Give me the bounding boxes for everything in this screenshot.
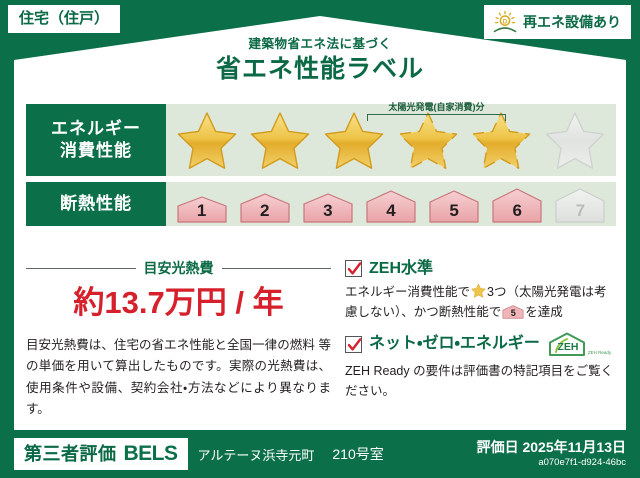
insulation-badge-1-number: 1 [175,202,229,219]
cost-rule-right [222,268,332,269]
energy-star-5-solar [470,110,532,170]
cost-section: 目安光熱費 約13.7万円 / 年 目安光熱費は、住宅の省エネ性能と全国一律の燃… [26,258,331,420]
renewable-equipment-tag: D 再エネ設備あり [484,5,631,39]
insulation-badge-4-number: 4 [364,202,418,219]
cost-heading-row: 目安光熱費 [26,258,331,278]
zeh-netzero-title: ネット・ゼロ・エネルギー [369,335,540,353]
zeh-standard-desc-part4: を達成 [525,305,563,319]
cost-note: 目安光熱費は、住宅の省エネ性能と全国一律の燃料 等の単価を用いて算出したものです… [26,335,331,420]
energy-star-1 [176,110,238,170]
star-icon [471,283,486,298]
insulation-badge-5: 5 [427,187,481,223]
svg-text:ZEH: ZEH [557,341,578,353]
cost-value: 約13.7万円 / 年 [26,284,331,321]
energy-label-line1: エネルギー [51,118,141,140]
cost-heading-label: 目安光熱費 [144,258,214,278]
zeh-netzero-head: ネット・ゼロ・エネルギー ZEH ZEH Ready [345,331,616,357]
zeh-standard-head: ZEH水準 [345,260,616,278]
energy-performance-row: エネルギー 消費性能 [26,104,616,176]
zeh-item-netzero: ネット・ゼロ・エネルギー ZEH ZEH Ready ZEH Ready の要件… [345,331,616,402]
cost-note-line1: 目安光熱費は、住宅の省エネ性能と全国一律の燃料 [26,338,315,352]
sun-icon: D [492,10,518,34]
zeh-netzero-checkbox[interactable] [345,336,362,353]
footer-bar: 第三者評価 BELS アルテーヌ浜寺元町 210号室 評価日 2025年11月1… [0,430,640,478]
insulation-badge-5-number: 5 [427,202,481,219]
zeh-standard-desc: エネルギー消費性能で3つ（太陽光発電は考慮しない）、かつ断熱性能で5を達成 [345,282,616,323]
label-title-main: 省エネ性能ラベル [0,54,640,85]
renewable-tag-label: 再エネ設備あり [523,15,621,29]
insulation-badge-2-number: 2 [238,202,292,219]
insulation-badge-7-inactive: 7 [553,185,607,223]
zeh-standard-title: ZEH水準 [369,260,433,278]
middle-section: 目安光熱費 約13.7万円 / 年 目安光熱費は、住宅の省エネ性能と全国一律の燃… [26,258,616,420]
energy-label-line2: 消費性能 [60,140,132,162]
insulation-performance-row: 断熱性能 1 2 [26,182,616,226]
insulation-badge-3-number: 3 [301,202,355,219]
label-title-sub: 建築物省エネ法に基づく [0,38,640,52]
evaluation-date: 評価日 2025年11月13日 [477,440,626,455]
cost-note-line3: 使用条件や設備、契約会社・方法などにより異なります。 [26,381,331,416]
insulation-badge-3: 3 [301,190,355,223]
label-title-block: 建築物省エネ法に基づく 省エネ性能ラベル [0,38,640,85]
insulation-performance-label: 断熱性能 [26,182,166,226]
insulation-label-text: 断熱性能 [60,193,132,215]
insulation-badge-2: 2 [238,190,292,223]
zeh-netzero-desc: ZEH Ready の要件は評価書の特記項目をご覧ください。 [345,361,616,402]
building-type-tag: 住宅（住戸） [8,5,120,33]
zeh-logo-sub: ZEH Ready [588,350,611,357]
zeh-section: ZEH水準 エネルギー消費性能で3つ（太陽光発電は考慮しない）、かつ断熱性能で5… [345,258,616,420]
check-icon [347,337,362,353]
energy-stars-panel: 太陽光発電(自家消費)分 [166,104,616,176]
insulation-badge-1: 1 [175,193,229,223]
cost-rule-left [26,268,136,269]
insulation-badge-6: 6 [490,185,544,223]
energy-star-6-empty [544,110,606,170]
check-icon [347,261,362,277]
energy-performance-label: 住宅（住戸） D 再エネ設備あり 建築物省エネ法に基づく 省エネ性能ラベル [0,0,640,478]
zeh-logo-icon: ZEH [547,331,587,357]
insulation-badge-6-number: 6 [490,202,544,219]
zeh-standard-checkbox[interactable] [345,260,362,277]
svg-text:D: D [503,18,508,25]
bels-jp-label: 第三者評価 [24,445,117,463]
insulation-badge-7-number: 7 [553,202,607,219]
energy-star-4-solar [397,110,459,170]
energy-performance-label: エネルギー 消費性能 [26,104,166,176]
room-number: 210号室 [332,444,383,464]
energy-star-2 [249,110,311,170]
zeh-item-standard: ZEH水準 エネルギー消費性能で3つ（太陽光発電は考慮しない）、かつ断熱性能で5… [345,260,616,322]
house-badge-number: 5 [502,309,524,318]
insulation-badge-4: 4 [364,187,418,223]
evaluation-id: a070e7f1-d924-46bc [477,457,626,468]
building-name: アルテーヌ浜寺元町 [198,445,315,464]
house-badge-icon: 5 [502,304,524,319]
bels-en-label: BELS [124,443,178,464]
evaluation-info: 評価日 2025年11月13日 a070e7f1-d924-46bc [477,440,626,469]
performance-rows: エネルギー 消費性能 [26,104,616,232]
insulation-badges-panel: 1 2 3 4 [166,182,616,226]
zeh-standard-desc-part1: エネルギー消費性能で [345,285,470,299]
zeh-netzero-desc-line1: ZEH Ready の要件は評価書の特記項目をご [345,364,588,378]
zeh-standard-desc-part2: 3つ（太陽光発電 [487,285,581,299]
bels-badge: 第三者評価 BELS [14,438,188,470]
energy-star-3 [323,110,385,170]
